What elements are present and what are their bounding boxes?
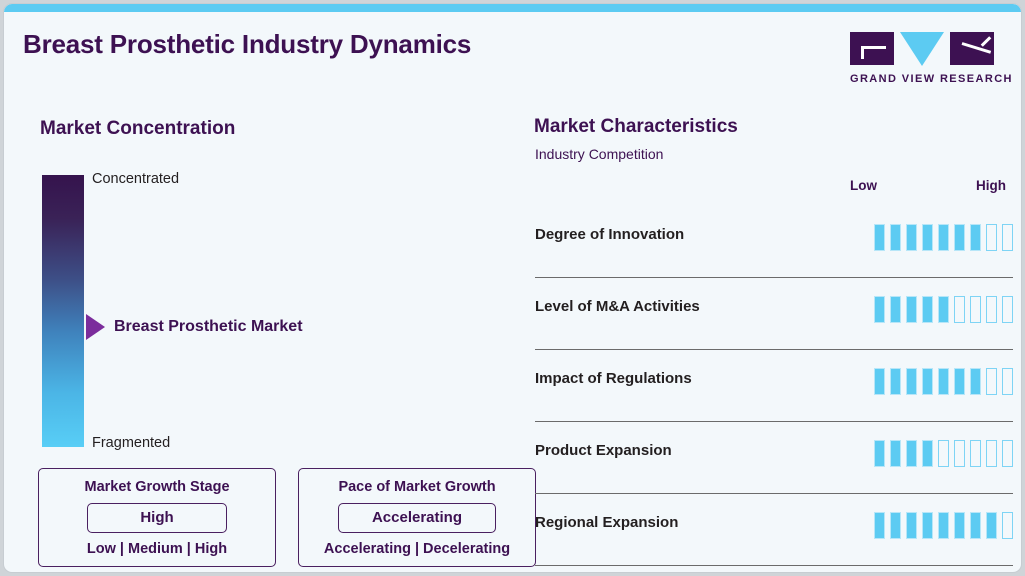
characteristic-rating-bars (874, 440, 1013, 467)
characteristic-label: Degree of Innovation (535, 226, 684, 243)
rating-segment-filled (954, 368, 965, 395)
pace-of-market-growth-title: Pace of Market Growth (313, 479, 521, 495)
rating-segment-filled (874, 224, 885, 251)
market-characteristics-panel: Market Characteristics Industry Competit… (524, 90, 1022, 573)
rating-segment-empty (986, 440, 997, 467)
characteristic-rating-bars (874, 368, 1013, 395)
concentration-gradient-bar (42, 175, 84, 447)
pace-of-market-growth-scale: Accelerating | Decelerating (313, 541, 521, 557)
rating-segment-empty (1002, 368, 1013, 395)
scale-header: Low High (524, 178, 1022, 198)
rating-segment-filled (906, 512, 917, 539)
rating-segment-filled (938, 512, 949, 539)
market-growth-stage-title: Market Growth Stage (53, 479, 261, 495)
rating-segment-empty (986, 296, 997, 323)
concentration-bottom-label: Fragmented (92, 435, 170, 451)
market-growth-stage-value: High (140, 509, 173, 526)
rating-segment-filled (906, 296, 917, 323)
brand-logo: GRAND VIEW RESEARCH (850, 32, 996, 88)
pace-of-market-growth-value-box: Accelerating (338, 503, 496, 533)
rating-segment-empty (986, 368, 997, 395)
logo-arrow-icon (950, 32, 994, 65)
characteristic-label: Product Expansion (535, 442, 672, 459)
market-growth-stage-value-box: High (87, 503, 227, 533)
rating-segment-empty (1002, 296, 1013, 323)
rating-segment-filled (970, 224, 981, 251)
concentration-scale: Concentrated Fragmented Breast Prostheti… (42, 175, 242, 447)
rating-segment-filled (938, 368, 949, 395)
rating-segment-filled (874, 440, 885, 467)
rating-segment-empty (986, 224, 997, 251)
characteristic-row: Degree of Innovation (535, 206, 1013, 278)
rating-segment-filled (922, 512, 933, 539)
rating-segment-filled (986, 512, 997, 539)
rating-segment-empty (970, 296, 981, 323)
header: Breast Prosthetic Industry Dynamics GRAN… (4, 12, 1021, 90)
characteristic-row: Level of M&A Activities (535, 278, 1013, 350)
rating-segment-filled (938, 224, 949, 251)
market-growth-stage-box: Market Growth Stage High Low | Medium | … (38, 468, 276, 567)
market-concentration-panel: Market Concentration Concentrated Fragme… (4, 90, 524, 573)
logo-triangle-icon (900, 32, 944, 66)
rating-segment-filled (970, 512, 981, 539)
stat-boxes: Market Growth Stage High Low | Medium | … (38, 468, 536, 567)
rating-segment-filled (874, 368, 885, 395)
top-accent-bar (4, 4, 1021, 12)
rating-segment-filled (906, 440, 917, 467)
rating-segment-filled (890, 368, 901, 395)
characteristic-rows: Degree of InnovationLevel of M&A Activit… (524, 206, 1022, 566)
market-concentration-title: Market Concentration (40, 118, 235, 140)
rating-segment-empty (970, 440, 981, 467)
rating-segment-filled (922, 224, 933, 251)
rating-segment-filled (954, 224, 965, 251)
rating-segment-filled (874, 512, 885, 539)
logo-wordmark: GRAND VIEW RESEARCH (850, 73, 996, 85)
characteristic-label: Impact of Regulations (535, 370, 692, 387)
rating-segment-filled (922, 296, 933, 323)
scale-low-label: Low (850, 178, 877, 193)
rating-segment-filled (922, 368, 933, 395)
scale-high-label: High (976, 178, 1006, 193)
characteristic-label: Level of M&A Activities (535, 298, 700, 315)
characteristic-row: Impact of Regulations (535, 350, 1013, 422)
market-characteristics-title: Market Characteristics (534, 116, 738, 138)
characteristic-row: Product Expansion (535, 422, 1013, 494)
concentration-top-label: Concentrated (92, 171, 179, 187)
characteristic-row: Regional Expansion (535, 494, 1013, 566)
market-position-label: Breast Prosthetic Market (114, 314, 303, 340)
market-characteristics-subtitle: Industry Competition (535, 146, 663, 162)
infographic-frame: Breast Prosthetic Industry Dynamics GRAN… (3, 3, 1022, 573)
rating-segment-empty (938, 440, 949, 467)
rating-segment-filled (906, 368, 917, 395)
market-growth-stage-scale: Low | Medium | High (53, 541, 261, 557)
characteristic-rating-bars (874, 224, 1013, 251)
rating-segment-empty (1002, 224, 1013, 251)
rating-segment-filled (890, 512, 901, 539)
pace-of-market-growth-box: Pace of Market Growth Accelerating Accel… (298, 468, 536, 567)
rating-segment-filled (890, 440, 901, 467)
characteristic-label: Regional Expansion (535, 514, 678, 531)
page-title: Breast Prosthetic Industry Dynamics (23, 29, 471, 60)
logo-marks (850, 32, 996, 68)
characteristic-rating-bars (874, 296, 1013, 323)
rating-segment-filled (954, 512, 965, 539)
pace-of-market-growth-value: Accelerating (372, 509, 462, 526)
rating-segment-filled (890, 224, 901, 251)
rating-segment-empty (954, 296, 965, 323)
logo-g-icon (850, 32, 894, 65)
rating-segment-empty (1002, 512, 1013, 539)
rating-segment-empty (954, 440, 965, 467)
characteristic-rating-bars (874, 512, 1013, 539)
rating-segment-filled (970, 368, 981, 395)
rating-segment-filled (906, 224, 917, 251)
rating-segment-filled (938, 296, 949, 323)
rating-segment-filled (874, 296, 885, 323)
rating-segment-empty (1002, 440, 1013, 467)
rating-segment-filled (922, 440, 933, 467)
market-position-marker-icon (86, 314, 105, 340)
rating-segment-filled (890, 296, 901, 323)
